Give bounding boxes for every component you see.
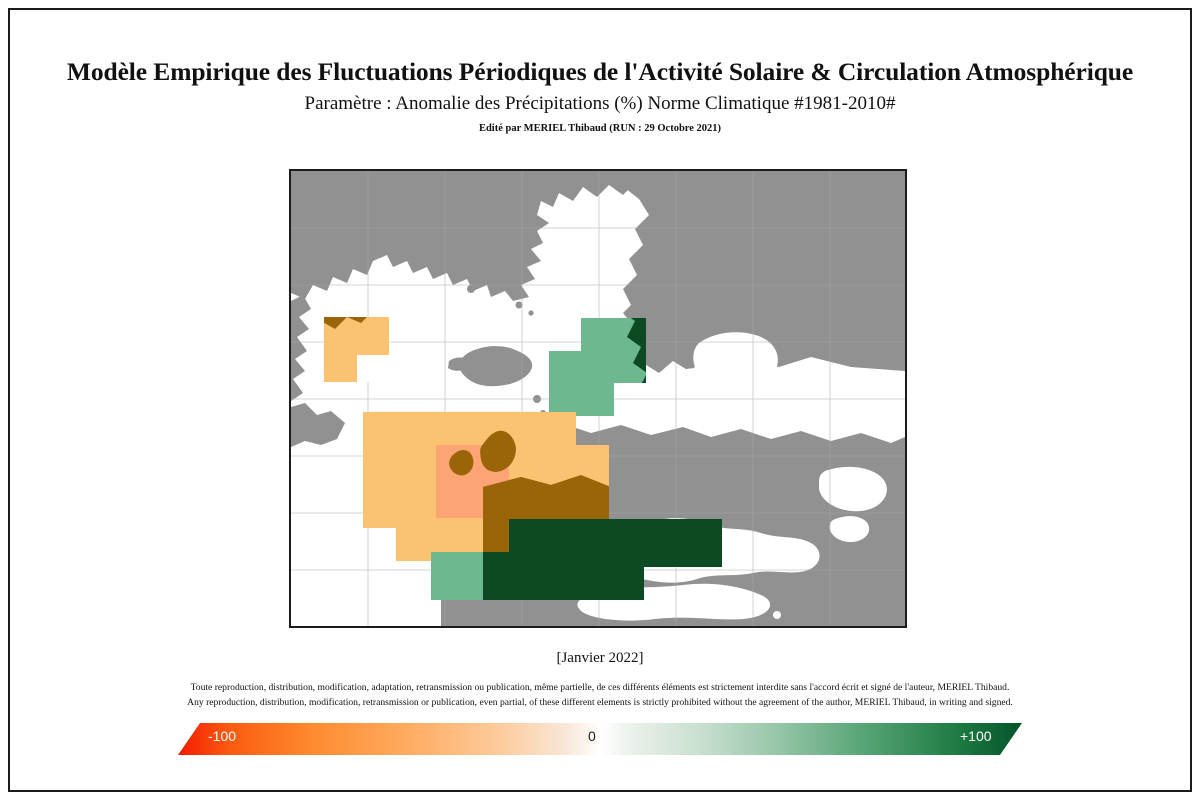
title-block: Modèle Empirique des Fluctuations Périod… [0,58,1200,134]
colorbar[interactable]: -100 0 +100 [178,723,1022,755]
colorbar-label-min: -100 [208,729,236,743]
legal-notice: Toute reproduction, distribution, modifi… [0,681,1200,711]
month-label: [Janvier 2022] [0,650,1200,667]
page-root: Modèle Empirique des Fluctuations Périod… [0,0,1200,800]
colorbar-label-zero: 0 [588,729,596,743]
anomaly-block-greenland [324,317,389,382]
colorbar-gradient [178,723,1022,755]
page-title: Modèle Empirique des Fluctuations Périod… [0,58,1200,87]
colorbar-label-max: +100 [960,729,992,743]
legal-notice-en: Any reproduction, distribution, modifica… [0,696,1200,711]
run-credit: Edité par MERIEL Thibaud (RUN : 29 Octob… [0,123,1200,134]
legal-notice-fr: Toute reproduction, distribution, modifi… [0,681,1200,696]
map-canvas [291,171,905,626]
page-subtitle: Paramètre : Anomalie des Précipitations … [0,93,1200,115]
map-panel[interactable]: Assez Sec Humide [289,169,907,628]
